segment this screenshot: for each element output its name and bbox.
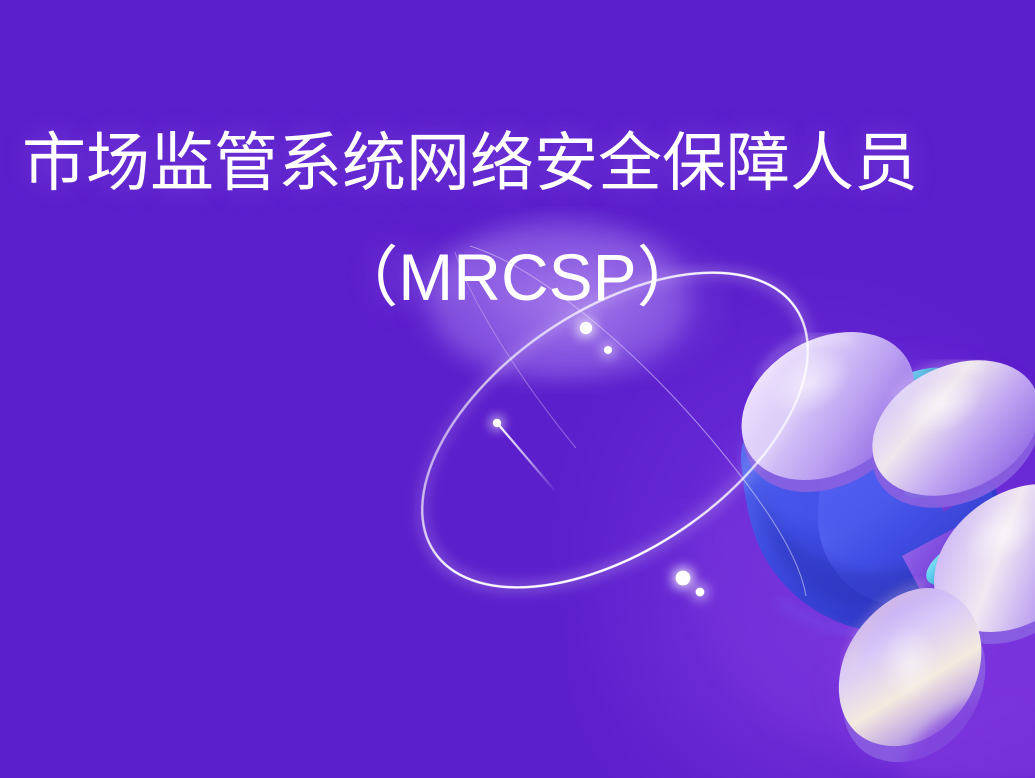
orbit-graphic-front [0,0,1035,778]
page-title: 市场监管系统网络安全保障人员 [22,131,1022,195]
orbit-node-large [580,322,592,334]
orbit-node-small [604,346,612,354]
page-subtitle: （MRCSP） [0,244,1035,310]
orbit-node-large [676,571,691,586]
slide-canvas: 市场监管系统网络安全保障人员 （MRCSP） [0,0,1035,778]
orbit-node-small [696,588,705,597]
